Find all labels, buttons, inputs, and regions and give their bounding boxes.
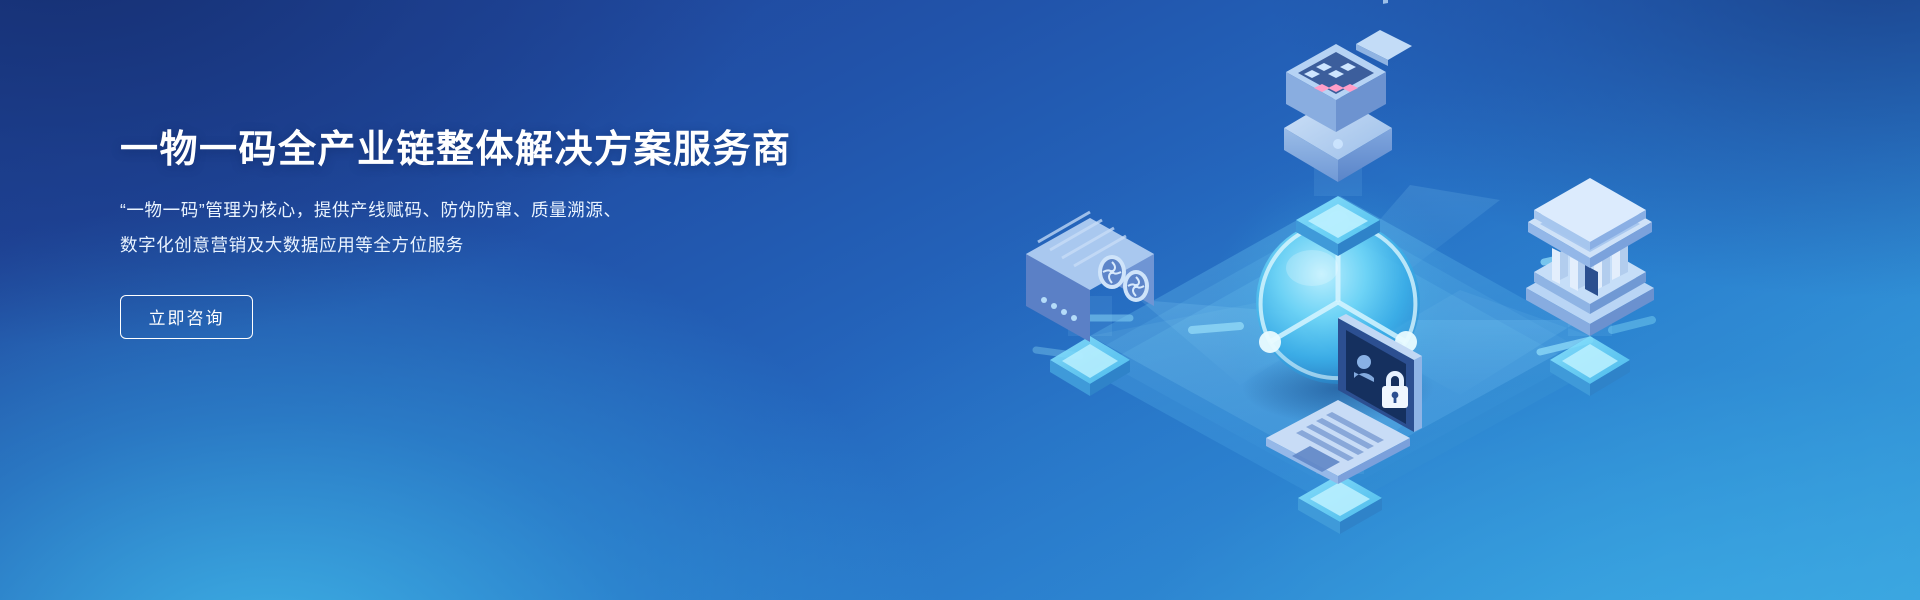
hero-illustration xyxy=(940,0,1920,600)
hero-copy: 一物一码全产业链整体解决方案服务商 “一物一码”管理为核心，提供产线赋码、防伪防… xyxy=(120,126,880,339)
hero-subtitle: “一物一码”管理为核心，提供产线赋码、防伪防窜、质量溯源、 数字化创意营销及大数… xyxy=(120,193,880,263)
subtitle-line-2: 数字化创意营销及大数据应用等全方位服务 xyxy=(120,228,880,263)
subtitle-line-1: “一物一码”管理为核心，提供产线赋码、防伪防窜、质量溯源、 xyxy=(120,193,880,228)
consult-now-button[interactable]: 立即咨询 xyxy=(120,295,253,339)
page-title: 一物一码全产业链整体解决方案服务商 xyxy=(120,126,880,175)
hero-banner: 一物一码全产业链整体解决方案服务商 “一物一码”管理为核心，提供产线赋码、防伪防… xyxy=(0,0,1920,600)
